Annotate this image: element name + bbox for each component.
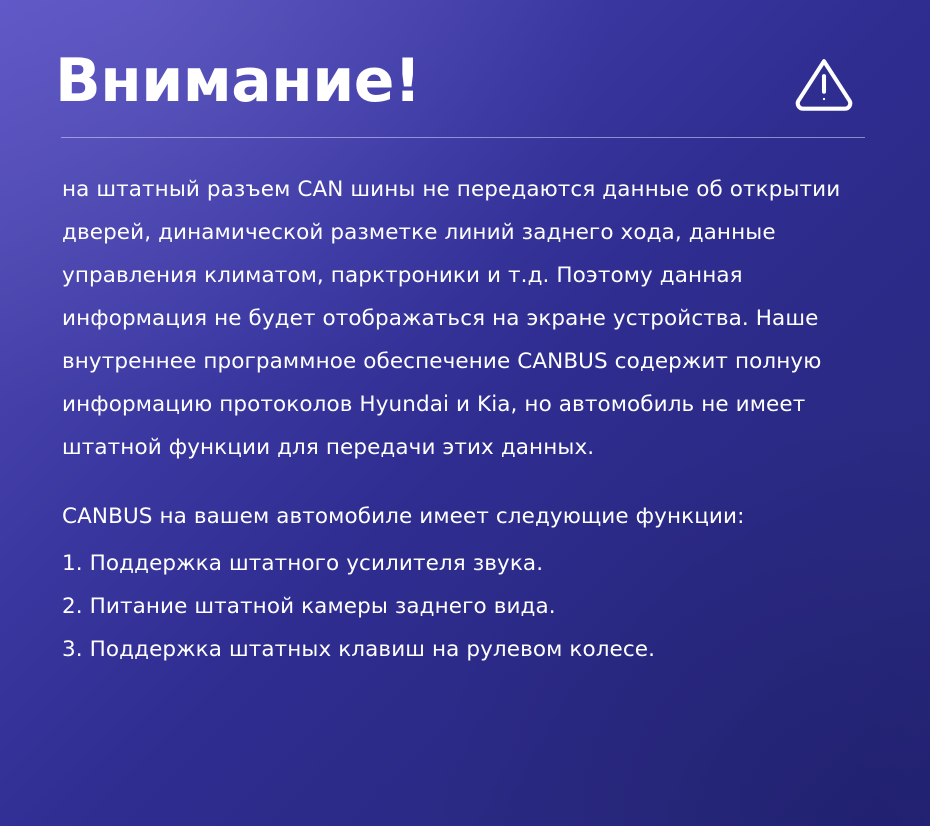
list-item: 3. Поддержка штатных клавиш на рулевом к… <box>62 628 875 671</box>
warning-banner: Внимание! на штатный разъем CAN шины не … <box>0 0 930 826</box>
banner-content: Внимание! на штатный разъем CAN шины не … <box>0 0 930 671</box>
functions-list: 1. Поддержка штатного усилителя звука. 2… <box>62 542 875 671</box>
warning-triangle-icon <box>793 52 855 114</box>
list-item: 2. Питание штатной камеры заднего вида. <box>62 585 875 628</box>
banner-header: Внимание! <box>55 0 875 115</box>
page-title: Внимание! <box>55 47 421 115</box>
main-paragraph: на штатный разъем CAN шины не передаются… <box>55 168 875 469</box>
list-item: 1. Поддержка штатного усилителя звука. <box>62 542 875 585</box>
functions-intro: CANBUS на вашем автомобиле имеет следующ… <box>62 495 875 538</box>
functions-block: CANBUS на вашем автомобиле имеет следующ… <box>55 495 875 671</box>
header-divider <box>61 137 865 138</box>
